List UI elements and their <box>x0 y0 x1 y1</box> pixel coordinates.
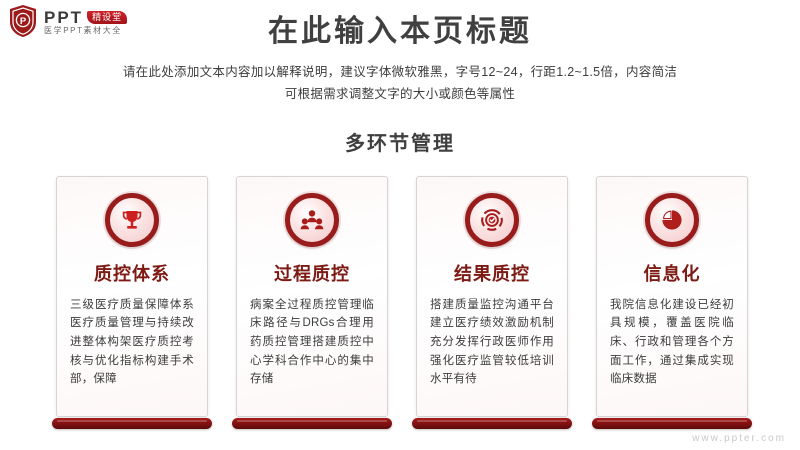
card-surface: 质控体系 三级医疗质量保障体系医疗质量管理与持续改进整体构架医疗质控考核与优化指… <box>56 176 208 417</box>
card-title: 信息化 <box>644 265 701 285</box>
card-title: 结果质控 <box>454 265 530 285</box>
card-item[interactable]: 过程质控 病案全过程质控管理临床路径与DRGs合理用药质控管理搭建质控中心学科合… <box>232 176 392 431</box>
card-list: 质控体系 三级医疗质量保障体系医疗质量管理与持续改进整体构架医疗质控考核与优化指… <box>52 176 752 431</box>
card-item[interactable]: 质控体系 三级医疗质量保障体系医疗质量管理与持续改进整体构架医疗质控考核与优化指… <box>52 176 212 431</box>
subtitle-line-2: 可根据需求调整文字的大小或颜色等属性 <box>0 84 800 106</box>
card-item[interactable]: 信息化 我院信息化建设已经初具规模，覆盖医院临床、行政和管理各个方面工作，通过集… <box>592 176 752 431</box>
card-surface: 结果质控 搭建质量监控沟通平台建立医疗绩效激励机制充分发挥行政医师作用强化医疗监… <box>416 176 568 417</box>
card-surface: 过程质控 病案全过程质控管理临床路径与DRGs合理用药质控管理搭建质控中心学科合… <box>236 176 388 417</box>
pie-chart-icon <box>645 193 699 247</box>
subtitle-line-1: 请在此处添加文本内容加以解释说明，建议字体微软雅黑，字号12~24，行距1.2~… <box>0 62 800 84</box>
card-title: 质控体系 <box>94 265 170 285</box>
group-people-icon <box>285 193 339 247</box>
card-base-bar <box>232 418 392 429</box>
card-text: 病案全过程质控管理临床路径与DRGs合理用药质控管理搭建质控中心学科合作中心的集… <box>237 296 387 389</box>
card-text: 我院信息化建设已经初具规模，覆盖医院临床、行政和管理各个方面工作，通过集成实现临… <box>597 296 747 389</box>
card-title: 过程质控 <box>274 265 350 285</box>
site-watermark: www.ppter.com <box>692 433 786 444</box>
page-title: 在此输入本页标题 <box>0 14 800 50</box>
section-heading: 多环节管理 <box>0 127 800 156</box>
card-item[interactable]: 结果质控 搭建质量监控沟通平台建立医疗绩效激励机制充分发挥行政医师作用强化医疗监… <box>412 176 572 431</box>
card-text: 三级医疗质量保障体系医疗质量管理与持续改进整体构架医疗质控考核与优化指标构建手术… <box>57 296 207 389</box>
card-surface: 信息化 我院信息化建设已经初具规模，覆盖医院临床、行政和管理各个方面工作，通过集… <box>596 176 748 417</box>
card-base-bar <box>52 418 212 429</box>
card-base-bar <box>412 418 572 429</box>
page-subtitle: 请在此处添加文本内容加以解释说明，建议字体微软雅黑，字号12~24，行距1.2~… <box>0 62 800 106</box>
card-base-bar <box>592 418 752 429</box>
target-check-icon <box>465 193 519 247</box>
card-text: 搭建质量监控沟通平台建立医疗绩效激励机制充分发挥行政医师作用强化医疗监管较低培训… <box>417 296 567 389</box>
trophy-icon <box>105 193 159 247</box>
